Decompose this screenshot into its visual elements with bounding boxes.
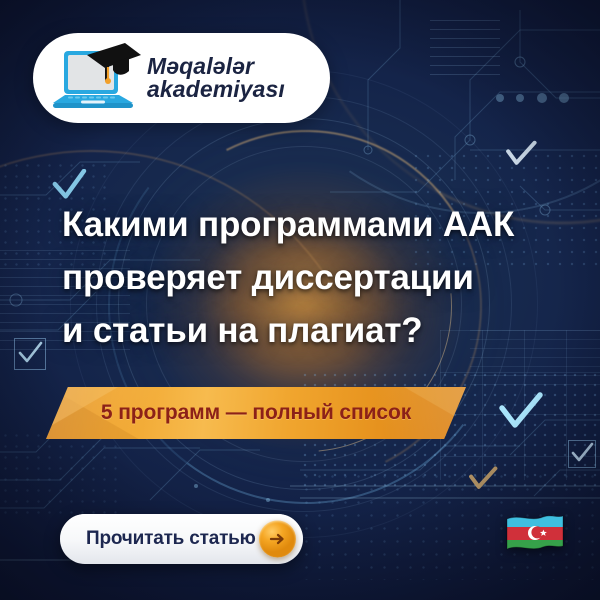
headline-line-2: проверяет диссертации [62, 251, 582, 304]
banner-label: 5 программ — полный список [46, 387, 466, 439]
laptop-graduation-cap-icon [47, 41, 143, 115]
check-cyan-mid-right-icon [498, 392, 544, 432]
arrow-right-icon[interactable] [259, 521, 296, 558]
read-article-label: Прочитать статью [86, 528, 256, 550]
brand-name: Məqalələr akademiyası [147, 55, 285, 102]
data-stripes-topright [430, 20, 500, 80]
highlight-banner: 5 программ — полный список [46, 387, 466, 439]
dot-matrix-3 [0, 430, 120, 520]
checkbox-right-low-icon [568, 440, 596, 468]
brand-name-line1: Məqalələr [147, 53, 254, 79]
brand-logo[interactable]: Məqalələr akademiyası [33, 33, 330, 123]
checkbox-left-mid-icon [14, 338, 46, 370]
headline-line-1: Какими программами ААК [62, 198, 582, 251]
promo-poster: Məqalələr akademiyası Какими программами… [0, 0, 600, 600]
read-article-button[interactable]: Прочитать статью [60, 514, 303, 564]
brand-name-line2: akademiyası [147, 78, 285, 101]
check-gold-bottom-icon [468, 465, 499, 492]
azerbaijan-flag-icon [505, 513, 565, 557]
check-white-top-right-icon [504, 139, 537, 169]
headline: Какими программами ААК проверяет диссерт… [62, 198, 582, 357]
headline-line-3: и статьи на плагиат? [62, 304, 582, 357]
